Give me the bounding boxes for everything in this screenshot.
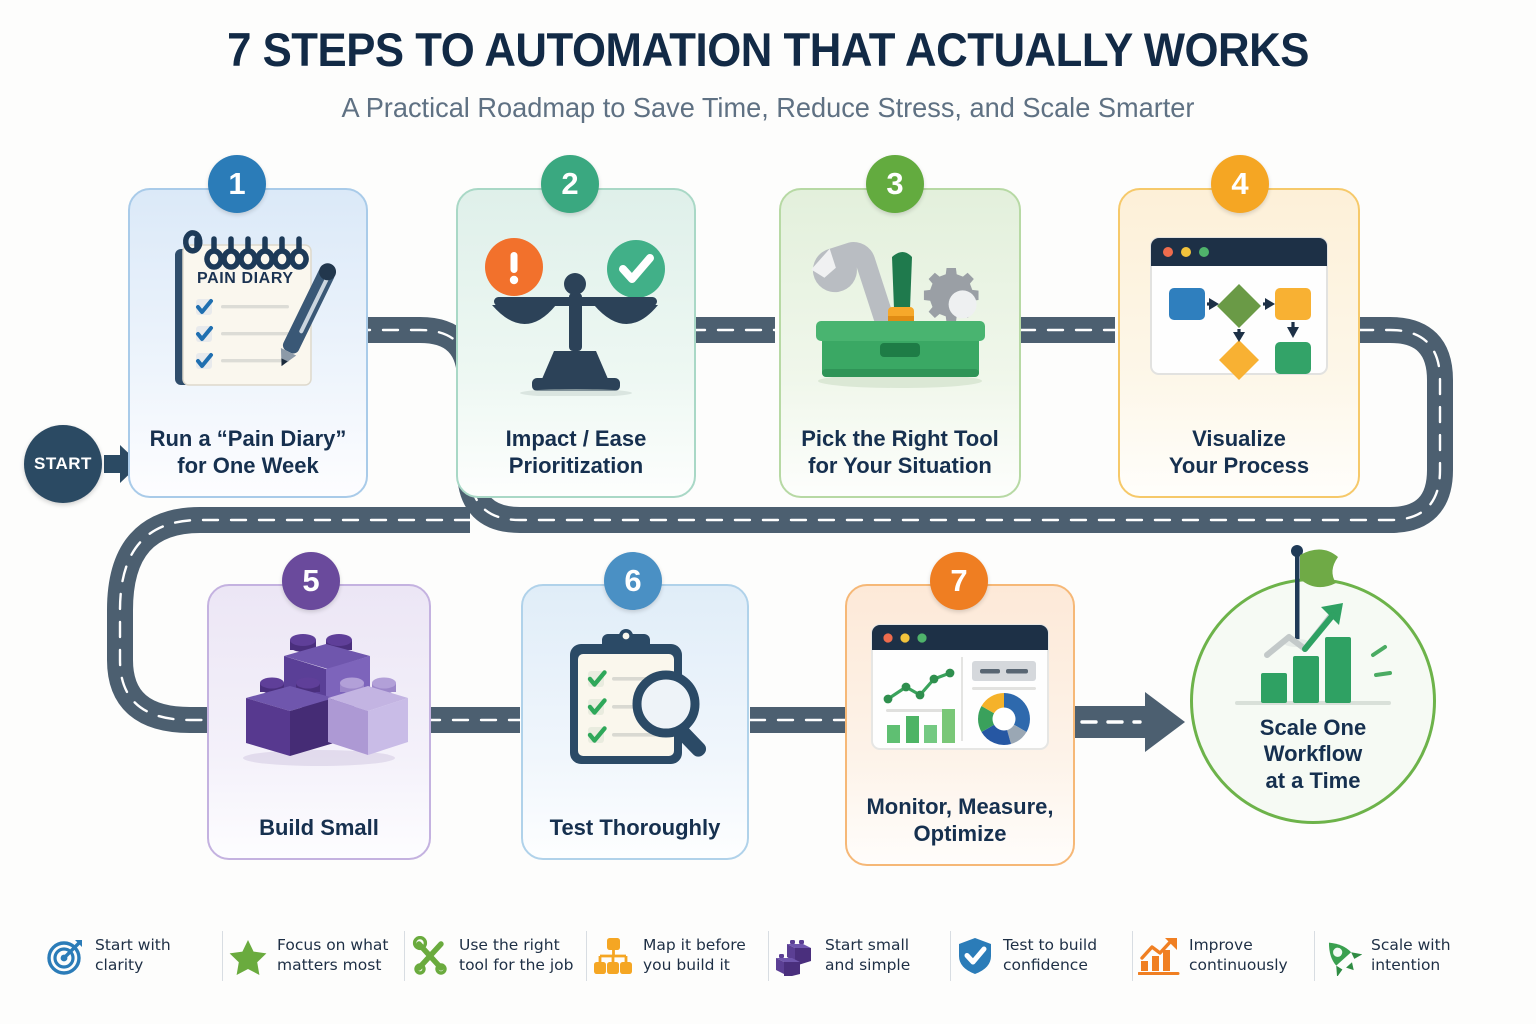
toolbox-icon: [781, 190, 1019, 426]
step-number-5: 5: [282, 552, 340, 610]
clipboard-magnifier-icon: [523, 586, 747, 815]
sitemap-icon: [592, 936, 634, 976]
shield-check-icon: [956, 936, 994, 976]
legend-label: Map it beforeyou build it: [643, 936, 746, 976]
step-number-3: 3: [866, 155, 924, 213]
goal-arrow: [1075, 692, 1185, 752]
legend-label: Scale withintention: [1371, 936, 1451, 976]
step-number-4: 4: [1211, 155, 1269, 213]
legend-item-improve-continuously[interactable]: Improvecontinuously: [1132, 925, 1314, 987]
legend-item-start-small-and-simple[interactable]: Start smalland simple: [768, 925, 950, 987]
step-label-6: Test Thoroughly: [523, 815, 747, 858]
step-card-4[interactable]: VisualizeYour Process: [1118, 188, 1360, 498]
goal-label: Scale OneWorkflowat a Time: [1193, 715, 1433, 795]
blocks-icon: [774, 936, 816, 976]
legend-item-start-with-clarity[interactable]: Start withclarity: [40, 925, 222, 987]
step-card-3[interactable]: Pick the Right Toolfor Your Situation: [779, 188, 1021, 498]
dashboard-window-icon: [847, 586, 1073, 794]
legend-label: Focus on whatmatters most: [277, 936, 389, 976]
legend-item-scale-with-intention[interactable]: Scale withintention: [1314, 925, 1496, 987]
star-icon: [228, 936, 268, 976]
legend-item-map-it-before-you-build[interactable]: Map it beforeyou build it: [586, 925, 768, 987]
pain-diary-notepad-icon: PAIN DIARY: [130, 190, 366, 426]
goal-circle[interactable]: Scale OneWorkflowat a Time: [1190, 578, 1436, 824]
road-path-layer: [0, 0, 1536, 1024]
infographic-canvas: 7 STEPS TO AUTOMATION THAT ACTUALLY WORK…: [0, 0, 1536, 1024]
step-card-5[interactable]: Build Small: [207, 584, 431, 860]
step-label-2: Impact / EasePrioritization: [458, 426, 694, 496]
step-label-5: Build Small: [209, 815, 429, 858]
step-number-2: 2: [541, 155, 599, 213]
legend-item-test-to-build-confidence[interactable]: Test to buildconfidence: [950, 925, 1132, 987]
step-label-7: Monitor, Measure,Optimize: [847, 794, 1073, 864]
flowchart-window-icon: [1120, 190, 1358, 426]
legend-label: Use the righttool for the job: [459, 936, 574, 976]
legend-label: Start withclarity: [95, 936, 171, 976]
step-label-4: VisualizeYour Process: [1120, 426, 1358, 496]
tools-icon: [410, 936, 450, 976]
legend-item-use-the-right-tool[interactable]: Use the righttool for the job: [404, 925, 586, 987]
step-card-6[interactable]: Test Thoroughly: [521, 584, 749, 860]
step-number-7: 7: [930, 552, 988, 610]
start-badge: START: [24, 425, 102, 503]
legend-label: Start smalland simple: [825, 936, 910, 976]
svg-text:PAIN DIARY: PAIN DIARY: [197, 270, 294, 287]
step-label-3: Pick the Right Toolfor Your Situation: [781, 426, 1019, 496]
step-number-6: 6: [604, 552, 662, 610]
step-card-2[interactable]: Impact / EasePrioritization: [456, 188, 696, 498]
rocket-icon: [1320, 936, 1362, 976]
growth-chart-flag-icon: [1193, 537, 1439, 737]
growth-icon: [1138, 936, 1180, 976]
step-card-7[interactable]: Monitor, Measure,Optimize: [845, 584, 1075, 866]
step-card-1[interactable]: PAIN DIARY: [128, 188, 368, 498]
step-label-1: Run a “Pain Diary”for One Week: [130, 426, 366, 496]
step-number-1: 1: [208, 155, 266, 213]
lego-blocks-icon: [209, 586, 429, 815]
legend-strip: Start withclarity Focus on whatmatters m…: [40, 915, 1496, 997]
target-icon: [46, 936, 86, 976]
legend-label: Test to buildconfidence: [1003, 936, 1097, 976]
legend-label: Improvecontinuously: [1189, 936, 1288, 976]
legend-item-focus-on-what-matters[interactable]: Focus on whatmatters most: [222, 925, 404, 987]
balance-scale-icon: [458, 190, 694, 426]
